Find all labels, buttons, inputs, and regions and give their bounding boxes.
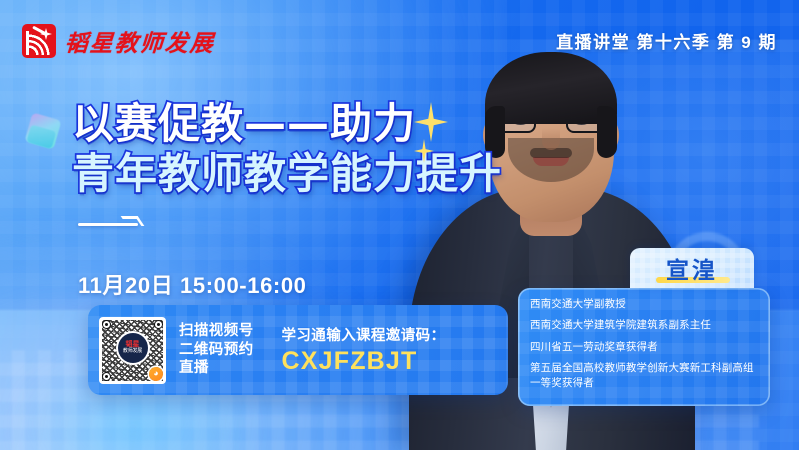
scan-instruction-line-2: 二维码预约 — [179, 341, 254, 360]
qr-center-logo-bottom: 教师发展 — [123, 349, 142, 355]
list-item: 西南交通大学建筑学院建筑系副系主任 — [530, 318, 758, 332]
hero-title-line-2: 青年教师教学能力提升 — [72, 150, 542, 197]
live-lecture-poster: 韬星教师发展 直播讲堂 第十六季 第 9 期 以赛促教——助力 青年教师教学能力… — [0, 0, 799, 450]
qr-center-logo: 韬星 教师发展 — [118, 333, 148, 363]
brand-logo: 韬星教师发展 — [22, 24, 215, 58]
event-datetime: 11月20日 15:00-16:00 — [78, 268, 307, 300]
season-episode-label: 直播讲堂 第十六季 第 9 期 — [556, 28, 777, 53]
speaker-name-badge: 宣湟 — [630, 248, 754, 288]
scan-instruction-line-1: 扫描视频号 — [179, 322, 254, 341]
scan-instruction: 扫描视频号 二维码预约 直播 — [179, 322, 254, 379]
qr-corner-bottom-left — [102, 372, 111, 381]
registration-panel: 韬星 教师发展 ◕ 扫描视频号 二维码预约 直播 学习通输入课程邀请码： CXJ… — [88, 305, 508, 395]
wechat-channels-icon: ◕ — [149, 367, 163, 381]
course-invite-code-block: 学习通输入课程邀请码： CXJFZBJT — [282, 324, 446, 376]
course-invite-code-label: 学习通输入课程邀请码： — [282, 324, 446, 345]
star-swoosh-logo-icon — [22, 24, 56, 58]
hero-title-line-1: 以赛促教——助力 — [72, 100, 542, 147]
course-invite-code-value[interactable]: CXJFZBJT — [282, 348, 446, 376]
arrow-right-icon — [78, 216, 146, 230]
qr-corner-top-right — [154, 320, 163, 329]
wechat-channels-qr-code-icon[interactable]: 韬星 教师发展 ◕ — [99, 317, 166, 384]
brand-logo-text: 韬星教师发展 — [64, 24, 216, 58]
speaker-credentials-list: 西南交通大学副教授 西南交通大学建筑学院建筑系副系主任 四川省五一劳动奖章获得者… — [530, 297, 758, 390]
speaker-name: 宣湟 — [666, 251, 718, 285]
list-item: 第五届全国高校教师教学创新大赛新工科副高组一等奖获得者 — [530, 361, 758, 390]
qr-corner-top-left — [102, 320, 111, 329]
speaker-credentials-card: 西南交通大学副教授 西南交通大学建筑学院建筑系副系主任 四川省五一劳动奖章获得者… — [518, 288, 770, 406]
hero-title: 以赛促教——助力 青年教师教学能力提升 — [72, 100, 542, 197]
list-item: 四川省五一劳动奖章获得者 — [530, 340, 758, 354]
scan-instruction-line-3: 直播 — [179, 359, 254, 378]
list-item: 西南交通大学副教授 — [530, 297, 758, 311]
